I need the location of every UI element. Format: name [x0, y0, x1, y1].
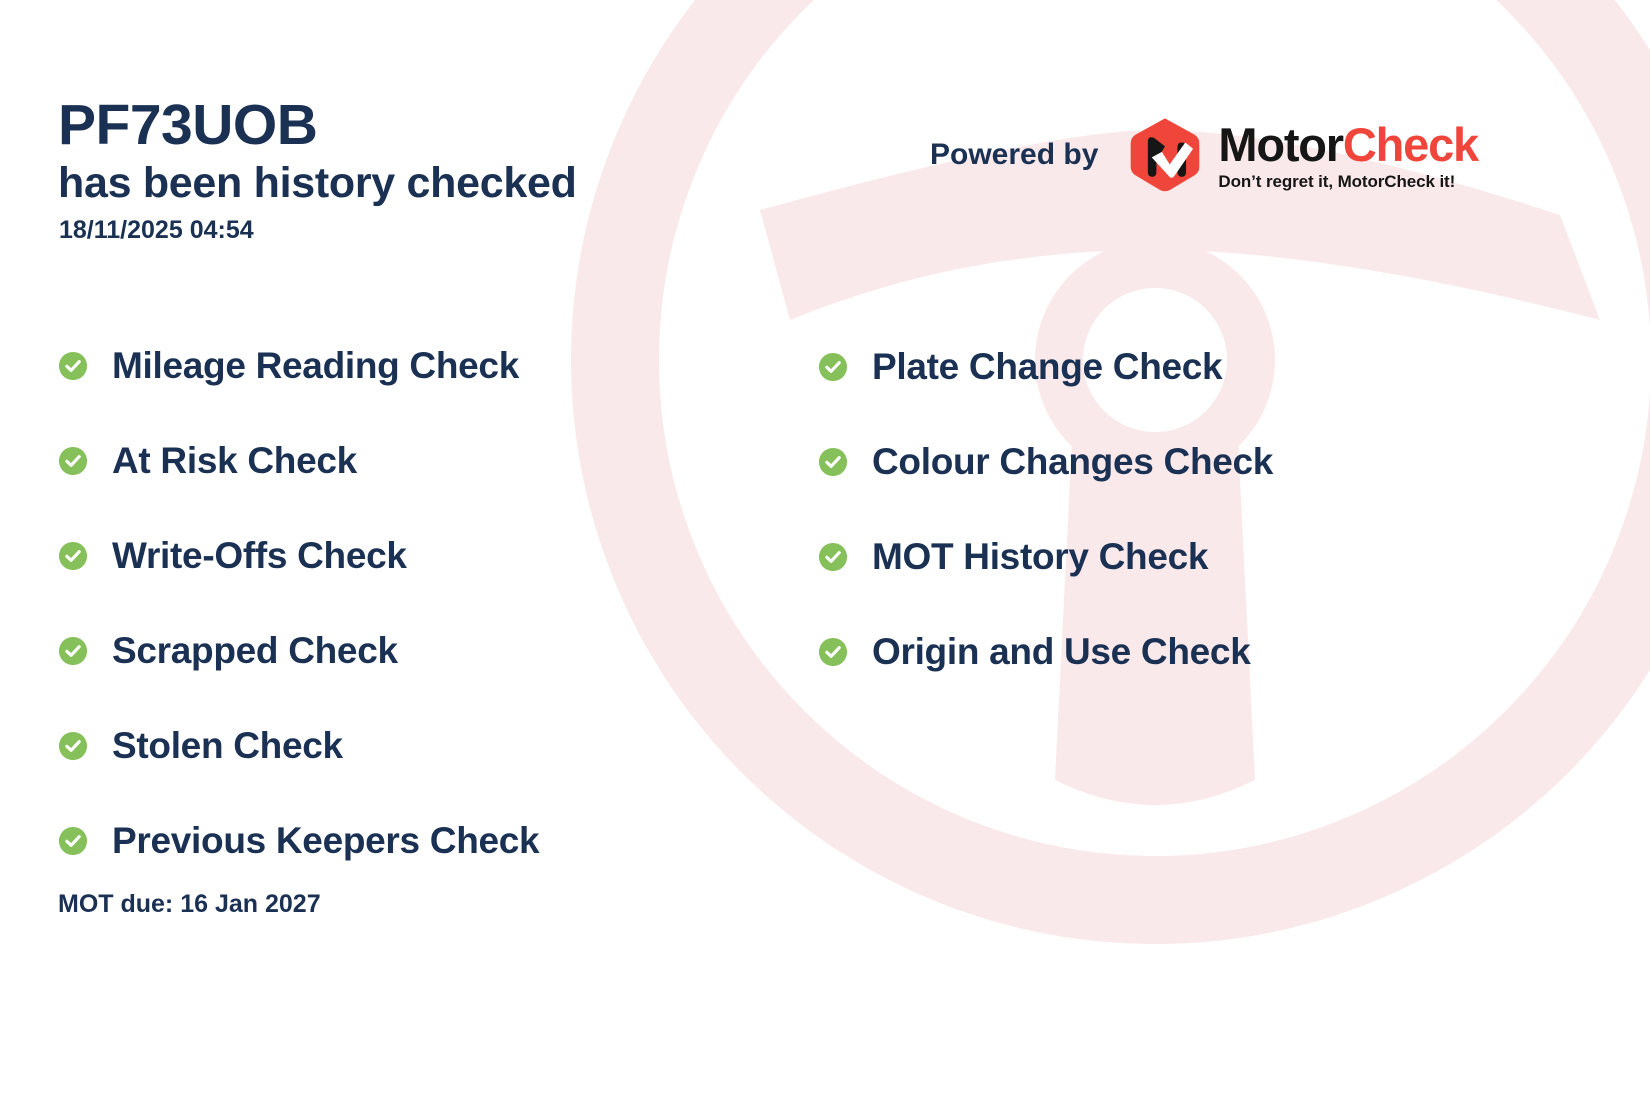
- list-item: Scrapped Check: [58, 603, 818, 698]
- header-block: PF73UOB has been history checked 18/11/2…: [58, 96, 577, 245]
- motorcheck-wordmark: MotorCheck: [1218, 121, 1478, 168]
- checks-column-right: Plate Change Check Colour Changes Check …: [818, 318, 1578, 888]
- list-item: Stolen Check: [58, 698, 818, 793]
- powered-by-label: Powered by: [930, 138, 1098, 172]
- motorcheck-wordmark-block: MotorCheck Don’t regret it, MotorCheck i…: [1218, 121, 1478, 190]
- check-circle-icon: [58, 826, 88, 856]
- check-label: Origin and Use Check: [872, 631, 1251, 673]
- wordmark-check: Check: [1343, 118, 1478, 171]
- list-item: At Risk Check: [58, 413, 818, 508]
- check-circle-icon: [818, 447, 848, 477]
- list-item: Plate Change Check: [818, 319, 1578, 414]
- checks-column-left: Mileage Reading Check At Risk Check Writ…: [58, 318, 818, 888]
- mot-due-text: MOT due: 16 Jan 2027: [58, 890, 321, 919]
- check-circle-icon: [818, 542, 848, 572]
- check-circle-icon: [58, 636, 88, 666]
- list-item: Colour Changes Check: [818, 414, 1578, 509]
- list-item: Previous Keepers Check: [58, 793, 818, 888]
- check-label: Write-Offs Check: [112, 535, 407, 577]
- check-label: Colour Changes Check: [872, 441, 1273, 483]
- motorcheck-tagline: Don’t regret it, MotorCheck it!: [1218, 173, 1478, 190]
- powered-by-block: Powered by MotorCheck Don’t regret it, M…: [930, 116, 1478, 194]
- check-label: Plate Change Check: [872, 346, 1222, 388]
- motorcheck-logo[interactable]: MotorCheck Don’t regret it, MotorCheck i…: [1126, 116, 1478, 194]
- check-label: Scrapped Check: [112, 630, 398, 672]
- check-label: Stolen Check: [112, 725, 343, 767]
- page-title: PF73UOB: [58, 96, 577, 154]
- check-label: Mileage Reading Check: [112, 345, 519, 387]
- checks-area: Mileage Reading Check At Risk Check Writ…: [58, 318, 1598, 888]
- list-item: Origin and Use Check: [818, 604, 1578, 699]
- list-item: Write-Offs Check: [58, 508, 818, 603]
- list-item: MOT History Check: [818, 509, 1578, 604]
- check-circle-icon: [818, 352, 848, 382]
- wordmark-motor: Motor: [1218, 118, 1343, 171]
- check-label: MOT History Check: [872, 536, 1208, 578]
- check-circle-icon: [58, 731, 88, 761]
- check-circle-icon: [58, 541, 88, 571]
- check-timestamp: 18/11/2025 04:54: [59, 216, 577, 245]
- list-item: Mileage Reading Check: [58, 318, 818, 413]
- motorcheck-hexagon-logo-icon: [1126, 116, 1204, 194]
- history-check-banner: PF73UOB has been history checked 18/11/2…: [0, 0, 1650, 1100]
- check-label: At Risk Check: [112, 440, 357, 482]
- check-circle-icon: [818, 637, 848, 667]
- page-subtitle: has been history checked: [58, 158, 577, 209]
- check-circle-icon: [58, 351, 88, 381]
- check-label: Previous Keepers Check: [112, 820, 539, 862]
- check-circle-icon: [58, 446, 88, 476]
